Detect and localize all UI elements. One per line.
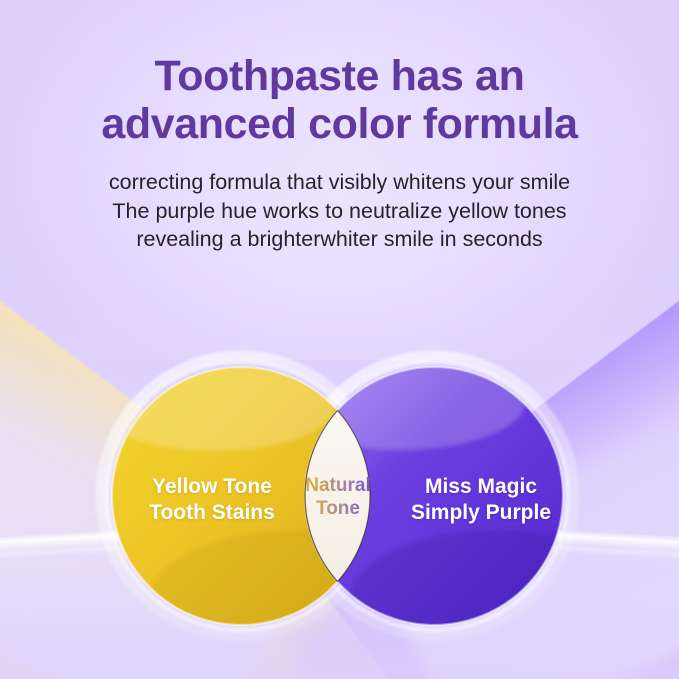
promo-banner: Toothpaste has an advanced color formula… [0, 0, 679, 679]
venn-label-left: Yellow Tone Tooth Stains [112, 474, 312, 525]
venn-label-center: Natural Tone [288, 474, 388, 520]
page-subtitle: correcting formula that visibly whitens … [0, 168, 679, 254]
page-title: Toothpaste has an advanced color formula [0, 52, 679, 148]
venn-label-right: Miss Magic Simply Purple [382, 474, 580, 525]
